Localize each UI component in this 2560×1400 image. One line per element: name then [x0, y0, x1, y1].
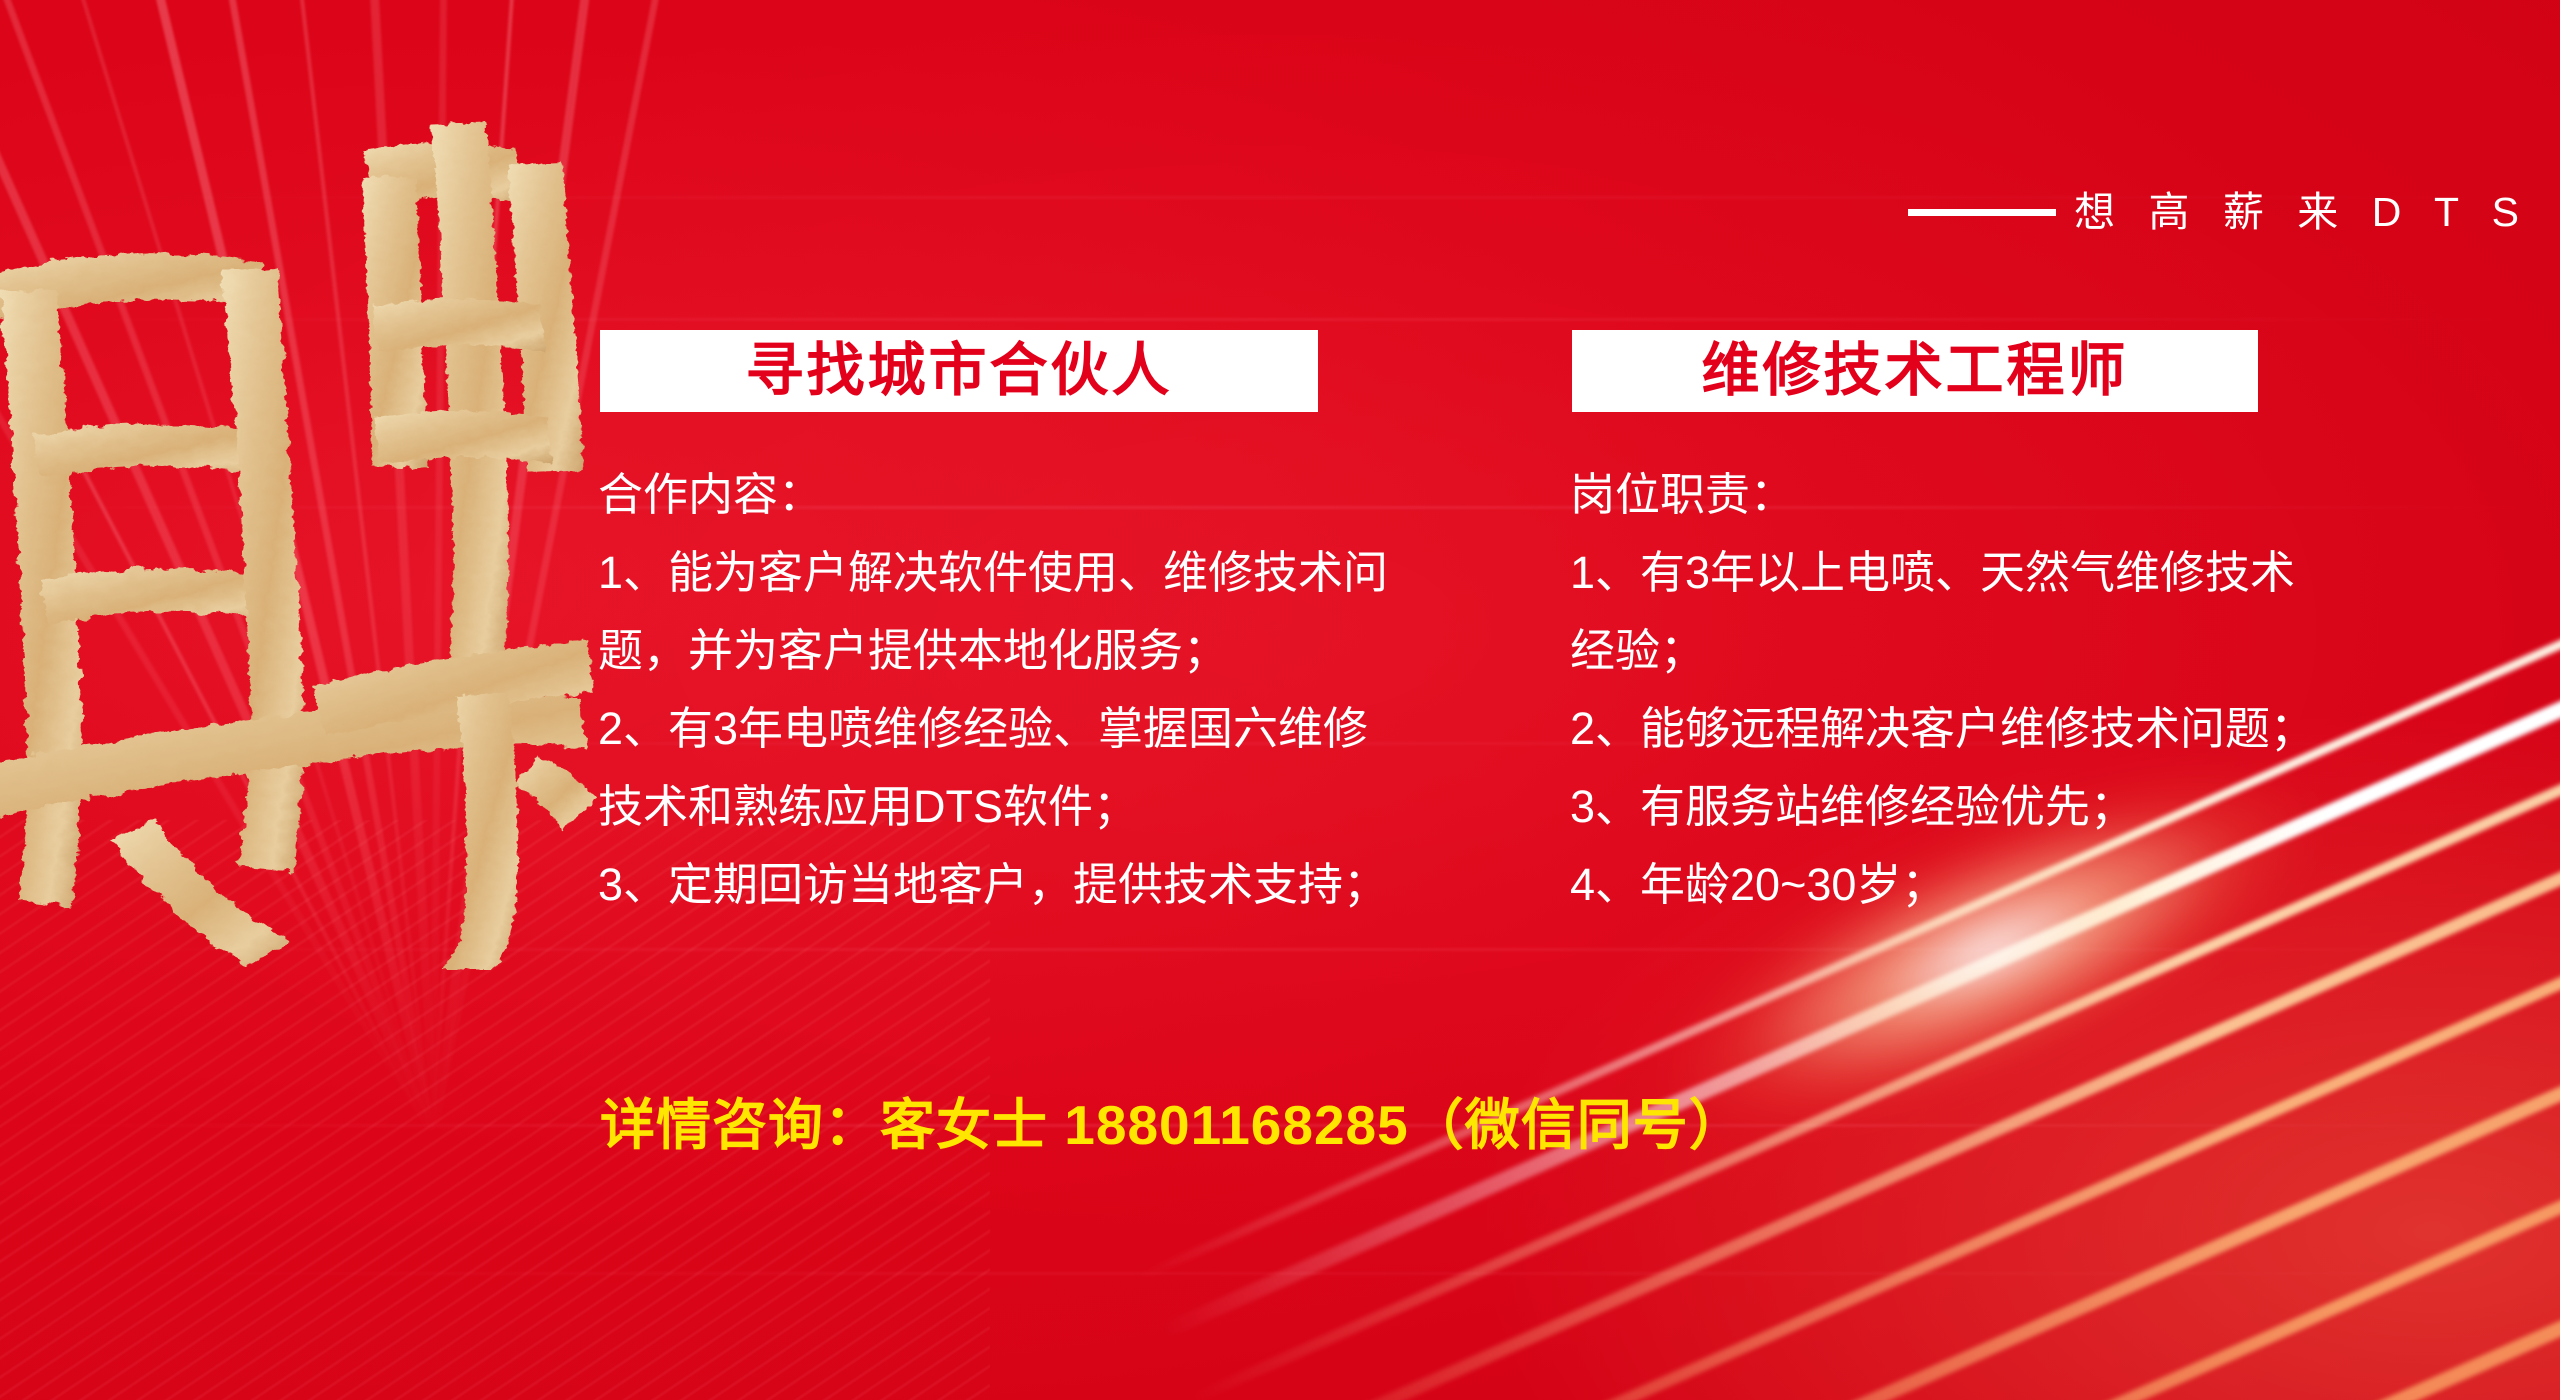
column-left-lines: 1、能为客户解决软件使用、维修技术问题，并为客户提供本地化服务；2、有3年电喷维… — [598, 550, 1558, 907]
column-right-heading: 岗位职责： — [1570, 472, 2560, 517]
column-line: 2、有3年电喷维修经验、掌握国六维修 — [598, 706, 1558, 751]
column-line: 2、能够远程解决客户维修技术问题； — [1570, 706, 2560, 751]
tagline-rule-icon — [1908, 209, 2056, 216]
column-line: 技术和熟练应用DTS软件； — [598, 784, 1558, 829]
headline-right-text: 维修技术工程师 — [1701, 342, 2128, 400]
tagline: 想 高 薪 来 D T S — [1908, 192, 2530, 233]
recruitment-poster: 想 高 薪 来 D T S 寻找城市合伙人 维修技术工程师 合作内容： 1、能为… — [0, 0, 2560, 1400]
column-line: 1、能为客户解决软件使用、维修技术问 — [598, 550, 1558, 595]
column-left-heading: 合作内容： — [598, 472, 1558, 517]
headline-left-text: 寻找城市合伙人 — [745, 342, 1172, 400]
column-right: 岗位职责： 1、有3年以上电喷、天然气维修技术经验；2、能够远程解决客户维修技术… — [1570, 472, 2560, 907]
contact-line: 详情咨询：客女士 18801168285（微信同号） — [600, 1098, 1745, 1153]
column-left: 合作内容： 1、能为客户解决软件使用、维修技术问题，并为客户提供本地化服务；2、… — [598, 472, 1558, 907]
headline-box-right: 维修技术工程师 — [1572, 330, 2258, 412]
column-line: 1、有3年以上电喷、天然气维修技术 — [1570, 550, 2560, 595]
column-line: 3、有服务站维修经验优先； — [1570, 784, 2560, 829]
column-line: 3、定期回访当地客户，提供技术支持； — [598, 862, 1558, 907]
tagline-text: 想 高 薪 来 D T S — [2074, 192, 2530, 233]
column-line: 题，并为客户提供本地化服务； — [598, 628, 1558, 673]
column-right-lines: 1、有3年以上电喷、天然气维修技术经验；2、能够远程解决客户维修技术问题；3、有… — [1570, 550, 2560, 907]
headline-box-left: 寻找城市合伙人 — [600, 330, 1318, 412]
column-line: 4、年龄20~30岁； — [1570, 862, 2560, 907]
column-line: 经验； — [1570, 628, 2560, 673]
